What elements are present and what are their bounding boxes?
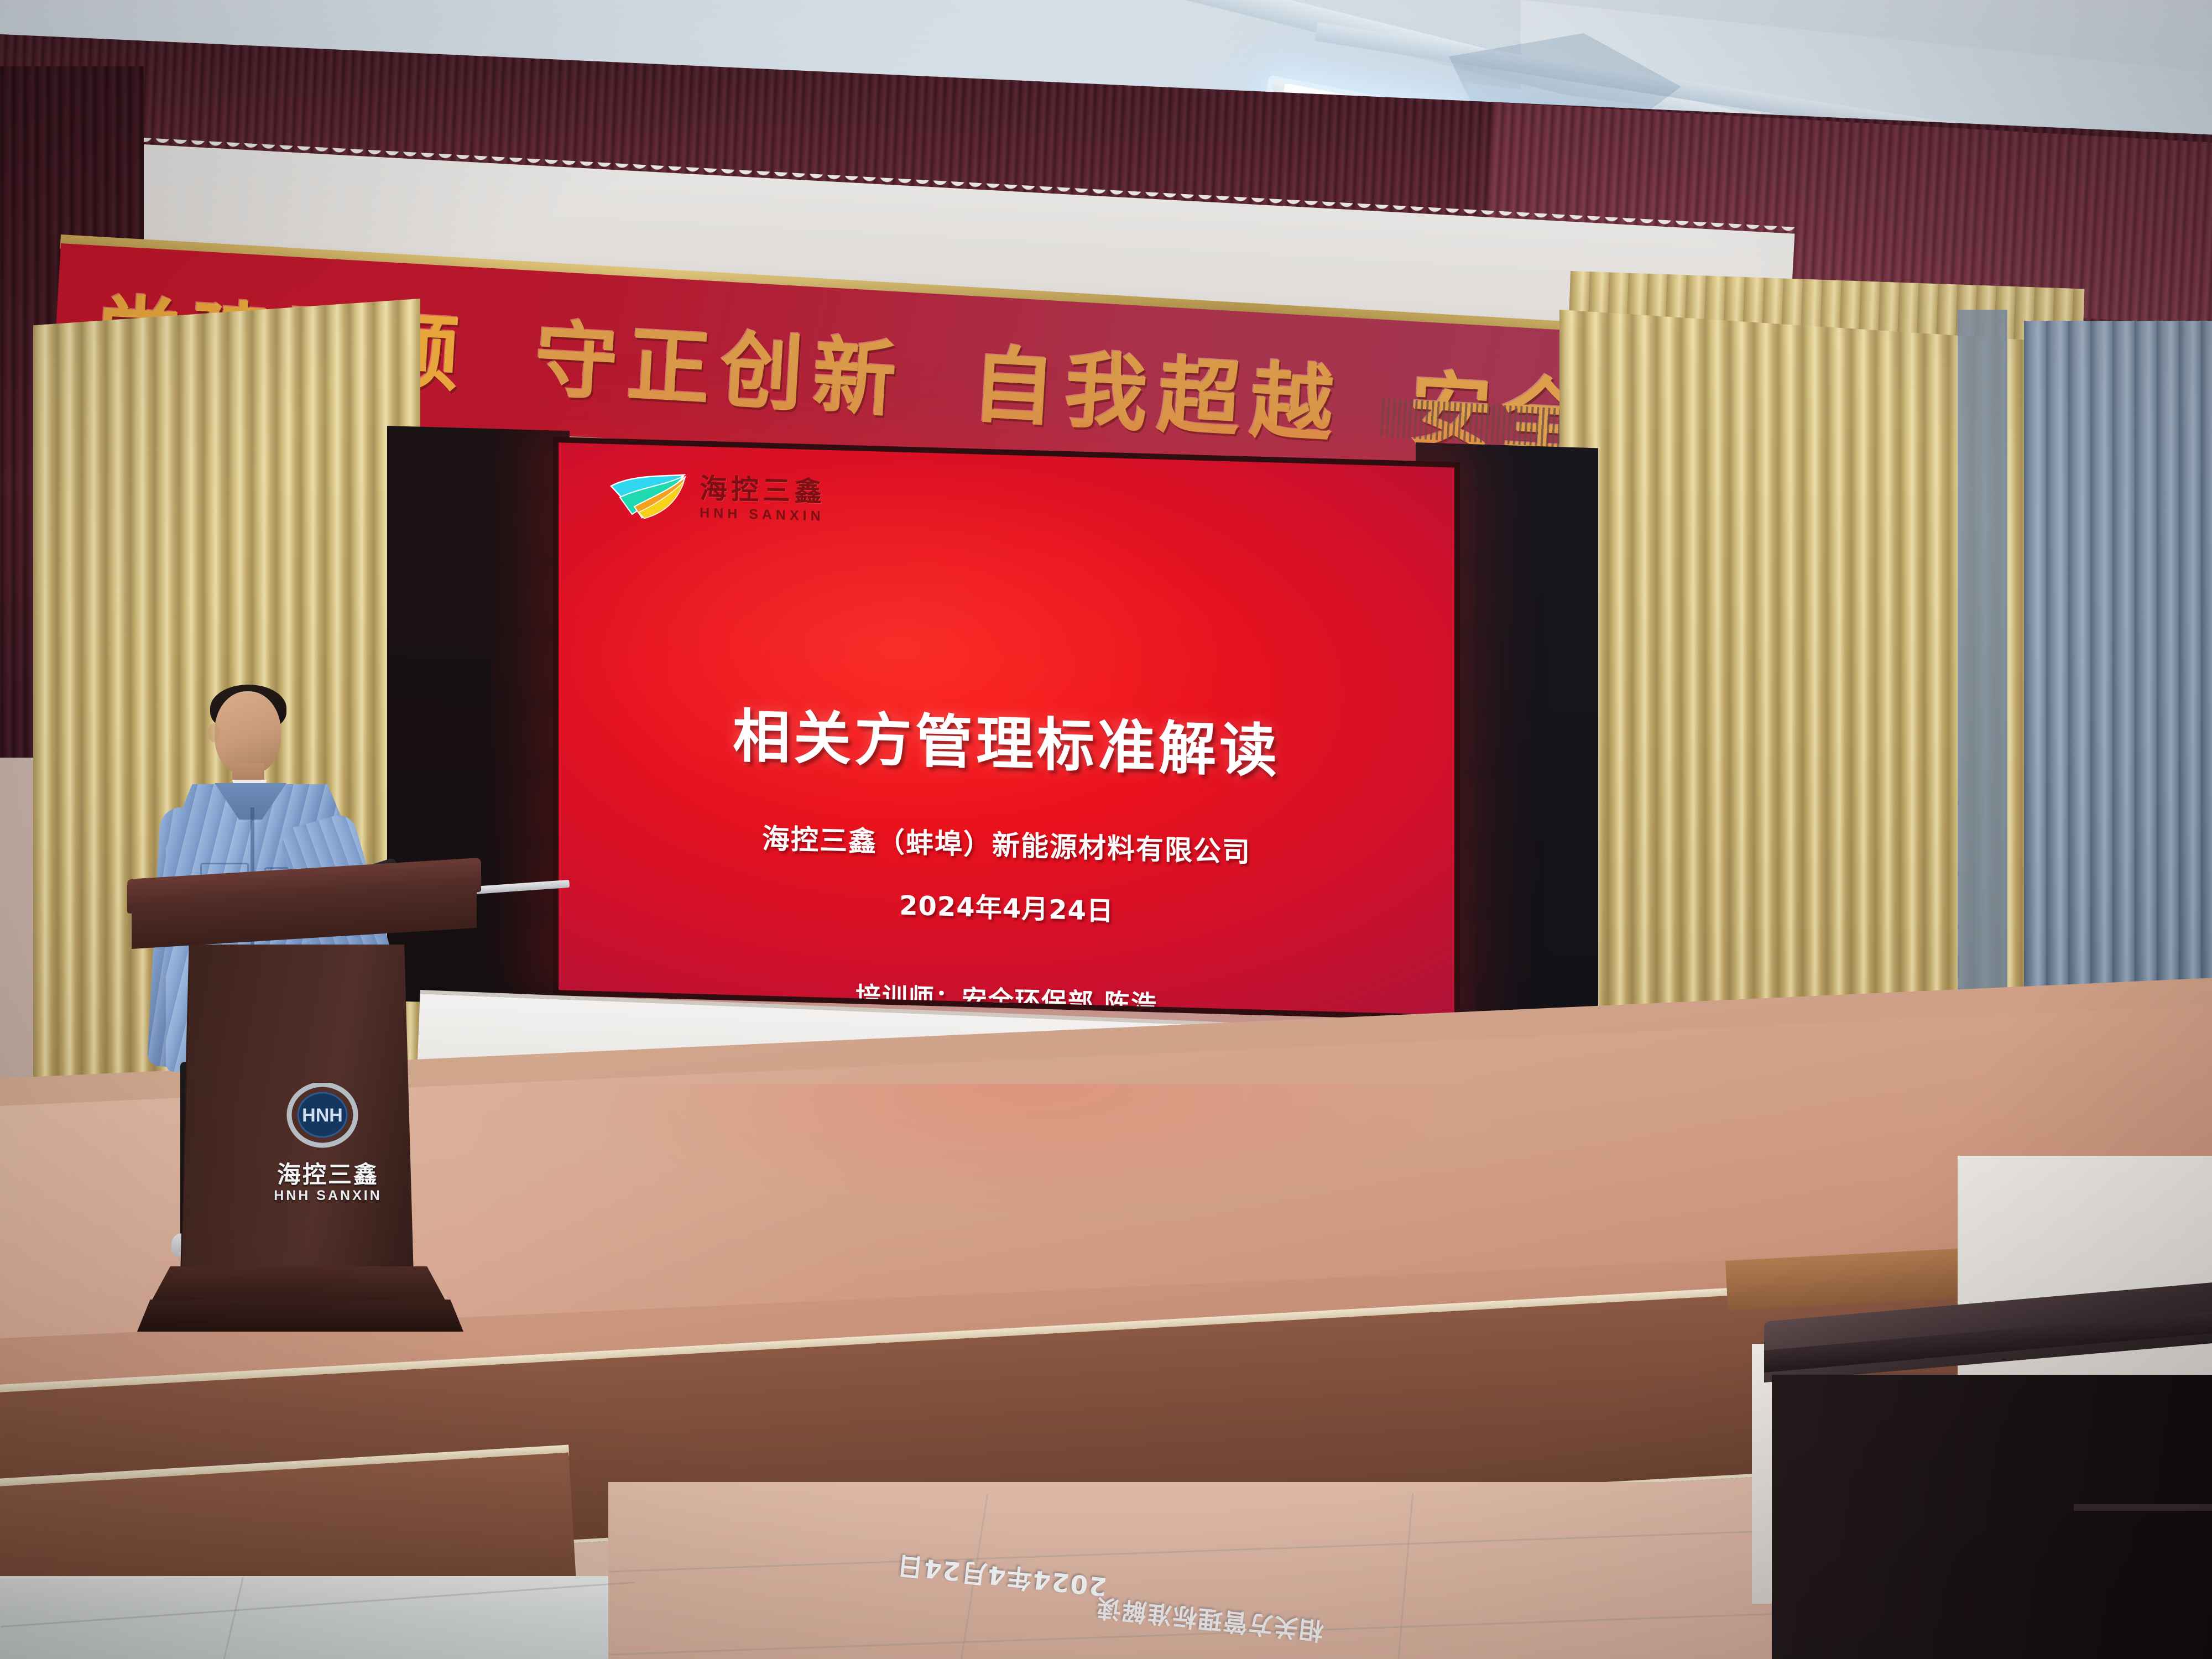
podium-body: HNH 海控三鑫 HNH SANXIN <box>181 945 414 1276</box>
foreground-table[interactable] <box>1764 1322 2212 1659</box>
photo-scene: 党建引领 守正创新 自我超越 安全发展 海控三鑫 <box>0 0 2212 1659</box>
slide-title: 相关方管理标准解读 <box>733 689 1280 788</box>
slide-body: 相关方管理标准解读 海控三鑫（蚌埠）新能源材料有限公司 2024年4月24日 培… <box>559 442 1454 1015</box>
podium-brand-english: HNH SANXIN <box>264 1188 392 1204</box>
presenter-head <box>215 691 281 774</box>
podium-plinth <box>137 1300 463 1332</box>
presenter-ear <box>208 723 220 742</box>
slide-date: 2024年4月24日 <box>899 884 1114 928</box>
led-screen-bezel: 海控三鑫 HNH SANXIN 相关方管理标准解读 海控三鑫（蚌埠）新能源材料有… <box>553 437 1460 1021</box>
banner-word-3: 自我超越 <box>969 317 1347 458</box>
led-screen[interactable]: 海控三鑫 HNH SANXIN 相关方管理标准解读 海控三鑫（蚌埠）新能源材料有… <box>559 442 1454 1015</box>
podium: HNH 海控三鑫 HNH SANXIN <box>127 879 492 1338</box>
svg-text:HNH: HNH <box>302 1105 343 1126</box>
hnh-circular-emblem-icon: HNH <box>286 1083 358 1149</box>
table-body <box>1772 1375 2212 1659</box>
banner-word-2: 守正创新 <box>532 293 910 434</box>
table-shelf <box>2074 1504 2212 1511</box>
podium-base <box>149 1266 448 1305</box>
podium-brand-chinese: 海控三鑫 <box>264 1156 392 1190</box>
slide-company-name: 海控三鑫（蚌埠）新能源材料有限公司 <box>762 817 1251 870</box>
